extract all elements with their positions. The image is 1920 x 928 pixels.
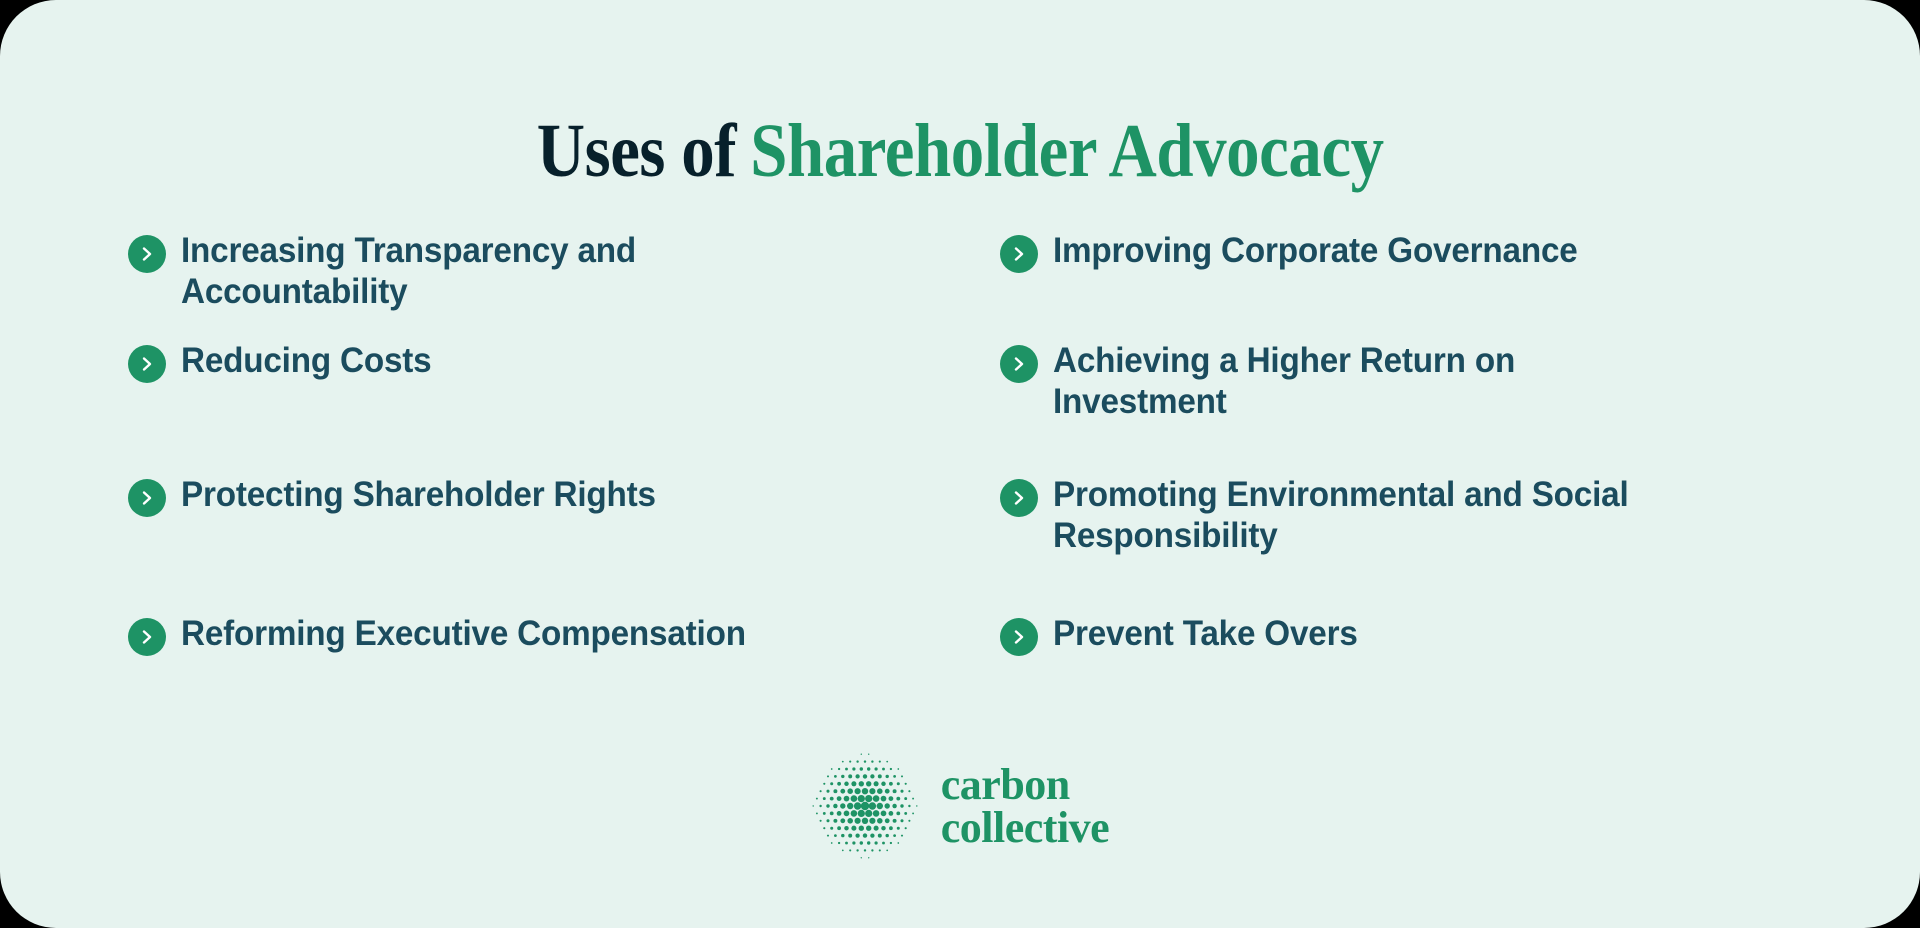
list-item[interactable]: Prevent Take Overs bbox=[1000, 613, 1720, 656]
list-item-label: Achieving a Higher Return on Investment bbox=[1053, 340, 1687, 423]
brand-logo: carbon collective bbox=[0, 752, 1920, 860]
chevron-right-circle-icon bbox=[128, 618, 166, 656]
list-item[interactable]: Protecting Shareholder Rights bbox=[128, 474, 848, 517]
brand-logo-wordmark: carbon collective bbox=[941, 763, 1109, 849]
list-item[interactable]: Reducing Costs bbox=[128, 340, 848, 383]
chevron-right-circle-icon bbox=[1000, 618, 1038, 656]
bullet-columns: Increasing Transparency and Accountabili… bbox=[0, 230, 1920, 660]
list-item-label: Increasing Transparency and Accountabili… bbox=[181, 230, 815, 313]
page-title-text: Uses ofShareholder Advocacy bbox=[537, 113, 1384, 189]
infographic-card: Uses ofShareholder Advocacy Increasing T… bbox=[0, 0, 1920, 928]
brand-logo-line2: collective bbox=[941, 806, 1109, 849]
chevron-right-circle-icon bbox=[128, 479, 166, 517]
list-item-label: Promoting Environmental and Social Respo… bbox=[1053, 474, 1687, 557]
chevron-right-circle-icon bbox=[128, 345, 166, 383]
list-item[interactable]: Reforming Executive Compensation bbox=[128, 613, 848, 656]
list-item-label: Reducing Costs bbox=[181, 340, 431, 381]
list-item-label: Prevent Take Overs bbox=[1053, 613, 1358, 654]
chevron-right-circle-icon bbox=[1000, 235, 1038, 273]
list-item-label: Protecting Shareholder Rights bbox=[181, 474, 656, 515]
list-item[interactable]: Increasing Transparency and Accountabili… bbox=[128, 230, 848, 313]
list-item-label: Improving Corporate Governance bbox=[1053, 230, 1578, 271]
list-item[interactable]: Improving Corporate Governance bbox=[1000, 230, 1720, 273]
chevron-right-circle-icon bbox=[1000, 479, 1038, 517]
page-title-dark-part: Uses of bbox=[537, 109, 736, 193]
page-title-green-part: Shareholder Advocacy bbox=[750, 109, 1383, 193]
list-item-label: Reforming Executive Compensation bbox=[181, 613, 746, 654]
brand-logo-line1: carbon bbox=[941, 763, 1109, 806]
page-title: Uses ofShareholder Advocacy bbox=[0, 62, 1920, 240]
list-item[interactable]: Achieving a Higher Return on Investment bbox=[1000, 340, 1720, 423]
chevron-right-circle-icon bbox=[128, 235, 166, 273]
carbon-collective-dot-sphere-icon bbox=[811, 752, 919, 860]
list-item[interactable]: Promoting Environmental and Social Respo… bbox=[1000, 474, 1720, 557]
chevron-right-circle-icon bbox=[1000, 345, 1038, 383]
